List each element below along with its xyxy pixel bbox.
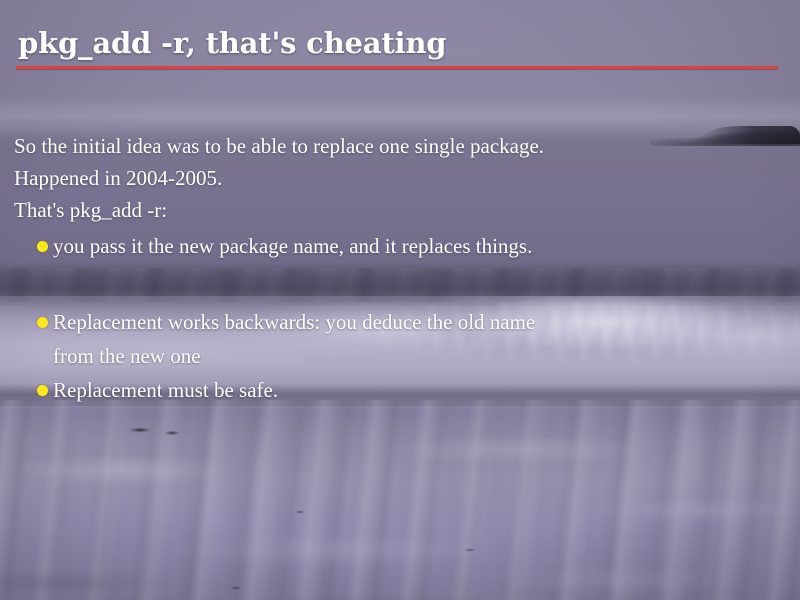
title-underline-rule [16, 66, 778, 69]
list-item: Replacement must be safe. [14, 373, 786, 407]
list-item-text: Replacement must be safe. [53, 373, 786, 407]
body-paragraph-1: So the initial idea was to be able to re… [14, 130, 786, 162]
body-paragraph-2: Happened in 2004-2005. [14, 162, 786, 194]
list-item: you pass it the new package name, and it… [14, 229, 786, 263]
slide-content: pkg_add -r, that's cheating So the initi… [0, 0, 800, 600]
bullet-dot-icon [37, 385, 48, 396]
slide-body: So the initial idea was to be able to re… [14, 130, 786, 407]
bullet-dot-icon [37, 317, 48, 328]
body-paragraph-3: That's pkg_add -r: [14, 194, 786, 226]
list-item-text-continued: from the new one [53, 339, 786, 373]
list-item-text: Replacement works backwards: you deduce … [53, 305, 786, 339]
slide-title: pkg_add -r, that's cheating [18, 26, 446, 60]
list-item: Replacement works backwards: you deduce … [14, 305, 786, 373]
bullet-dot-icon [37, 241, 48, 252]
list-item-text: you pass it the new package name, and it… [53, 229, 786, 263]
bullet-list: you pass it the new package name, and it… [14, 229, 786, 407]
presentation-slide: pkg_add -r, that's cheating So the initi… [0, 0, 800, 600]
